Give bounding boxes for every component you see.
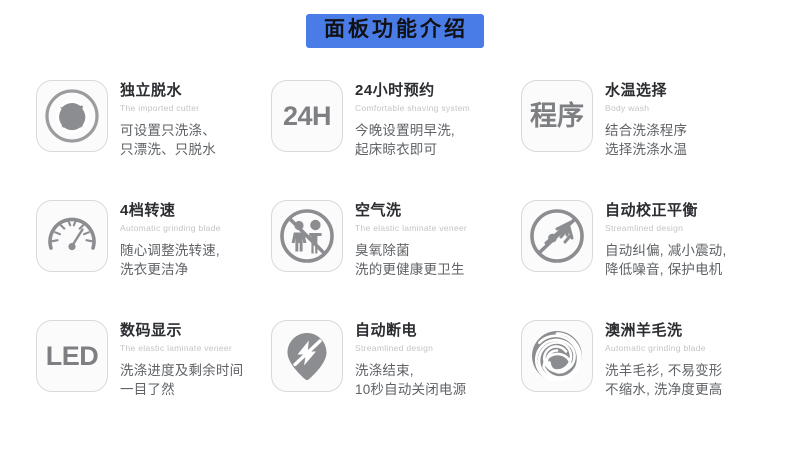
feature-card-four-speed[interactable]: 4档转速 Automatic grinding blade 随心调整洗转速, 洗… bbox=[0, 188, 265, 308]
page-header: 面板功能介绍 bbox=[0, 0, 790, 48]
icon-tile bbox=[521, 200, 593, 272]
feature-description: 臭氧除菌 洗的更健康更卫生 bbox=[355, 241, 467, 279]
feature-title: 空气洗 bbox=[355, 202, 467, 220]
feature-card-independent-spin[interactable]: 独立脱水 The imported cutter 可设置只洗涤、 只漂洗、只脱水 bbox=[0, 68, 265, 188]
feature-title: 4档转速 bbox=[120, 202, 221, 220]
feature-subtitle: Streamlined design bbox=[605, 223, 726, 233]
feature-card-water-temperature[interactable]: 程序 水温选择 Body wash 结合洗涤程序 选择洗涤水温 bbox=[515, 68, 790, 188]
spin-drum-icon bbox=[44, 88, 100, 144]
feature-card-wool-wash[interactable]: 澳洲羊毛洗 Automatic grinding blade 洗羊毛衫, 不易变… bbox=[515, 308, 790, 428]
feature-text: 数码显示 The elastic laminate veneer 洗涤进度及剩余… bbox=[120, 320, 243, 400]
icon-tile bbox=[36, 200, 108, 272]
page-title: 面板功能介绍 bbox=[306, 14, 484, 48]
feature-card-auto-power-off[interactable]: 自动断电 Streamlined design 洗涤结束, 10秒自动关闭电源 bbox=[265, 308, 515, 428]
feature-text: 24小时预约 Comfortable shaving system 今晚设置明早… bbox=[355, 80, 470, 160]
feature-text: 4档转速 Automatic grinding blade 随心调整洗转速, 洗… bbox=[120, 200, 221, 280]
feature-text: 澳洲羊毛洗 Automatic grinding blade 洗羊毛衫, 不易变… bbox=[605, 320, 723, 400]
led-text-icon: LED bbox=[46, 343, 99, 370]
feature-description: 可设置只洗涤、 只漂洗、只脱水 bbox=[120, 121, 216, 159]
feature-title: 数码显示 bbox=[120, 322, 243, 340]
icon-tile bbox=[36, 80, 108, 152]
feature-subtitle: Body wash bbox=[605, 103, 687, 113]
no-vibration-icon bbox=[528, 207, 586, 265]
feature-card-air-wash[interactable]: 空气洗 The elastic laminate veneer 臭氧除菌 洗的更… bbox=[265, 188, 515, 308]
feature-title: 24小时预约 bbox=[355, 82, 470, 100]
feature-description: 洗羊毛衫, 不易变形 不缩水, 洗净度更高 bbox=[605, 361, 723, 399]
feature-card-digital-display[interactable]: LED 数码显示 The elastic laminate veneer 洗涤进… bbox=[0, 308, 265, 428]
feature-text: 自动校正平衡 Streamlined design 自动纠偏, 减小震动, 降低… bbox=[605, 200, 726, 280]
feature-description: 随心调整洗转速, 洗衣更洁净 bbox=[120, 241, 221, 279]
icon-tile: 程序 bbox=[521, 80, 593, 152]
feature-text: 水温选择 Body wash 结合洗涤程序 选择洗涤水温 bbox=[605, 80, 687, 160]
feature-description: 结合洗涤程序 选择洗涤水温 bbox=[605, 121, 687, 159]
feature-text: 独立脱水 The imported cutter 可设置只洗涤、 只漂洗、只脱水 bbox=[120, 80, 216, 160]
feature-card-24h-reservation[interactable]: 24H 24小时预约 Comfortable shaving system 今晚… bbox=[265, 68, 515, 188]
feature-text: 自动断电 Streamlined design 洗涤结束, 10秒自动关闭电源 bbox=[355, 320, 466, 400]
feature-description: 自动纠偏, 减小震动, 降低噪音, 保护电机 bbox=[605, 241, 726, 279]
feature-title: 自动断电 bbox=[355, 322, 466, 340]
no-children-icon bbox=[278, 207, 336, 265]
icon-tile bbox=[521, 320, 593, 392]
feature-subtitle: The elastic laminate veneer bbox=[120, 343, 243, 353]
feature-title: 独立脱水 bbox=[120, 82, 216, 100]
speedometer-icon bbox=[44, 208, 100, 264]
feature-description: 今晚设置明早洗, 起床晾衣即可 bbox=[355, 121, 470, 159]
icon-tile bbox=[271, 200, 343, 272]
icon-tile: 24H bbox=[271, 80, 343, 152]
feature-description: 洗涤结束, 10秒自动关闭电源 bbox=[355, 361, 466, 399]
24h-text-icon: 24H bbox=[283, 103, 331, 130]
icon-tile bbox=[271, 320, 343, 392]
feature-grid: 独立脱水 The imported cutter 可设置只洗涤、 只漂洗、只脱水… bbox=[0, 68, 790, 428]
feature-subtitle: Streamlined design bbox=[355, 343, 466, 353]
feature-subtitle: Comfortable shaving system bbox=[355, 103, 470, 113]
wool-spiral-icon bbox=[528, 327, 586, 385]
feature-description: 洗涤进度及剩余时间 一目了然 bbox=[120, 361, 243, 399]
feature-text: 空气洗 The elastic laminate veneer 臭氧除菌 洗的更… bbox=[355, 200, 467, 280]
power-off-pin-icon bbox=[279, 328, 335, 384]
feature-subtitle: Automatic grinding blade bbox=[120, 223, 221, 233]
feature-card-auto-balance[interactable]: 自动校正平衡 Streamlined design 自动纠偏, 减小震动, 降低… bbox=[515, 188, 790, 308]
icon-tile: LED bbox=[36, 320, 108, 392]
feature-subtitle: The elastic laminate veneer bbox=[355, 223, 467, 233]
feature-title: 澳洲羊毛洗 bbox=[605, 322, 723, 340]
feature-title: 水温选择 bbox=[605, 82, 687, 100]
feature-subtitle: The imported cutter bbox=[120, 103, 216, 113]
program-text-icon: 程序 bbox=[530, 103, 584, 130]
feature-title: 自动校正平衡 bbox=[605, 202, 726, 220]
feature-subtitle: Automatic grinding blade bbox=[605, 343, 723, 353]
